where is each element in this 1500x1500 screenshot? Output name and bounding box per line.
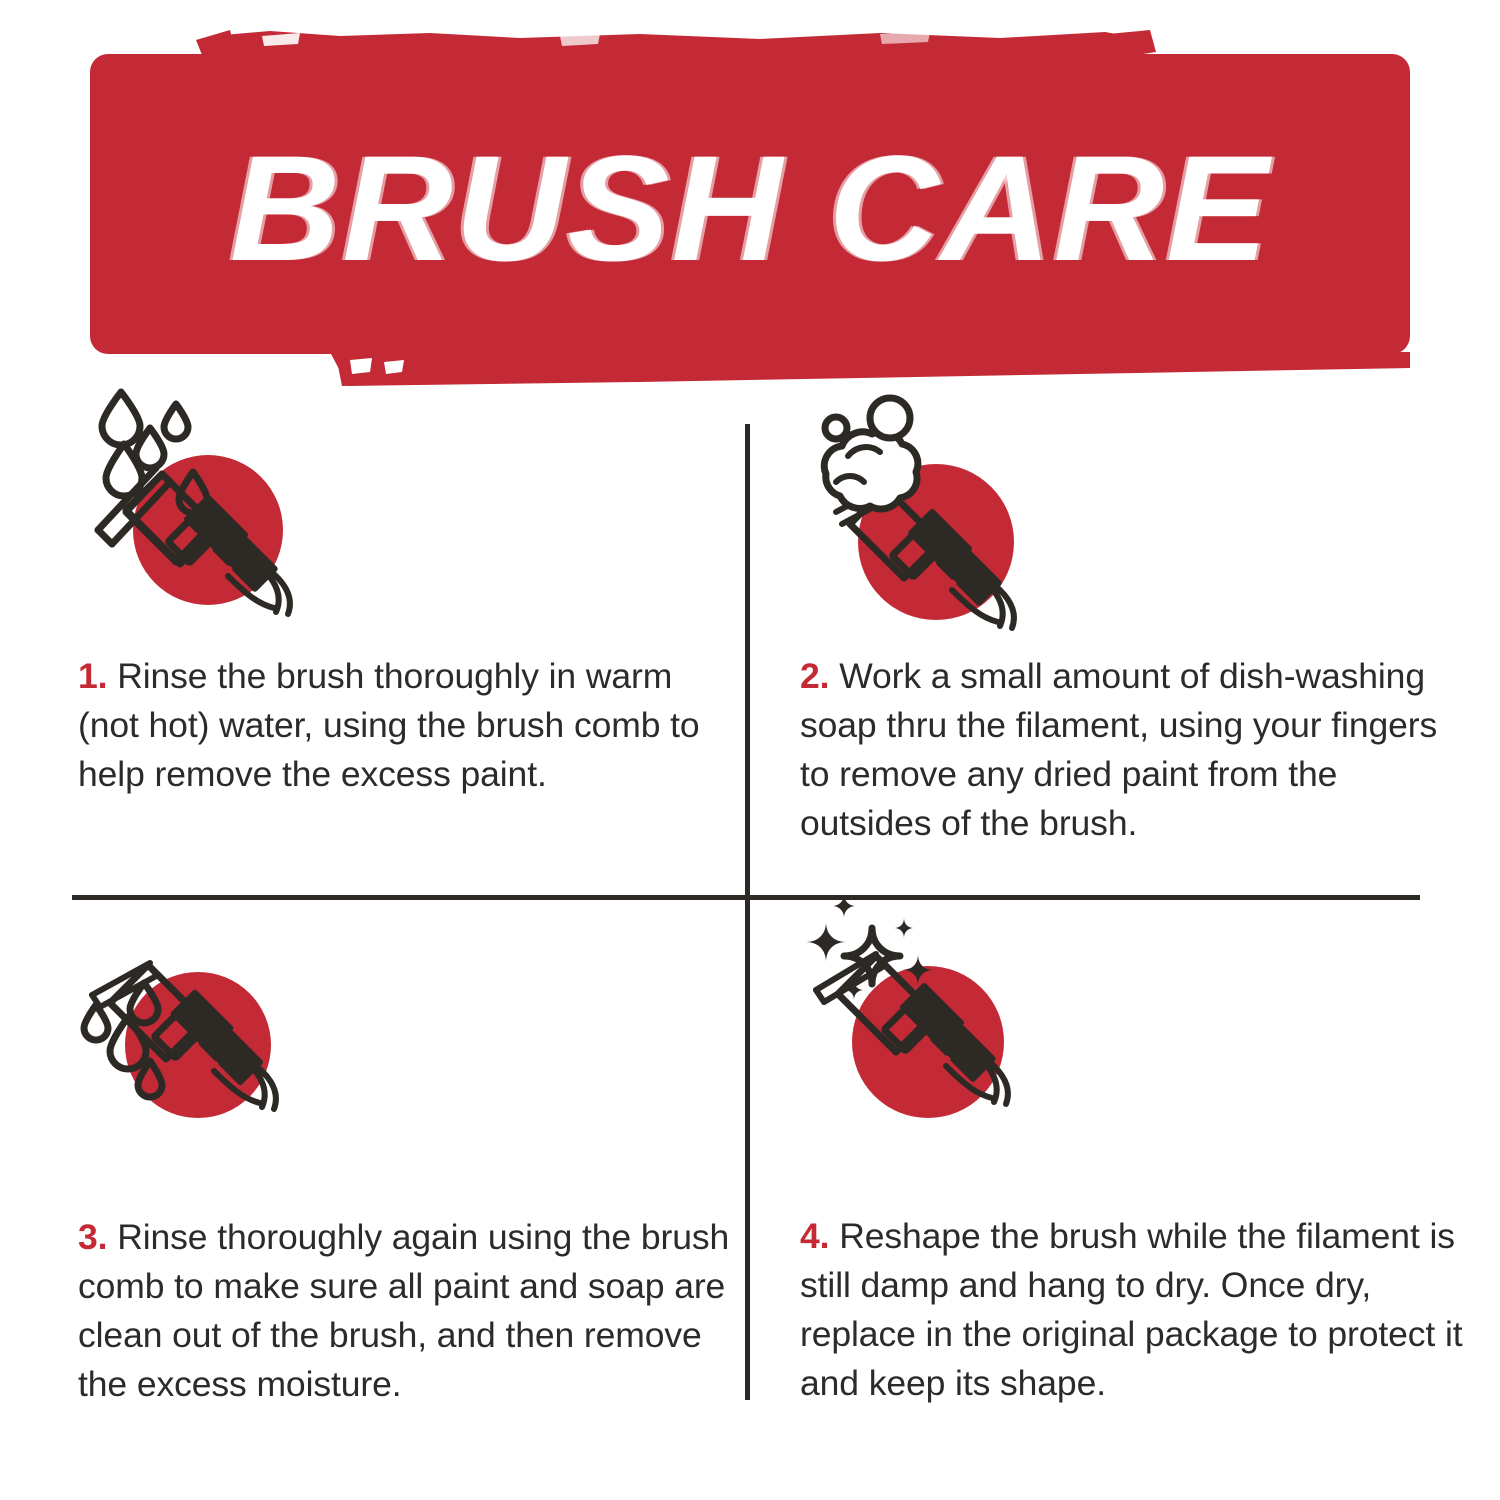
paintbrush-rinse-drops-icon <box>78 935 338 1185</box>
step-card-3: 3. Rinse thoroughly again using the brus… <box>78 935 768 1409</box>
brush-care-infographic: BRUSH CARE <box>0 0 1500 1500</box>
step-text-2: 2. Work a small amount of dish-washing s… <box>800 652 1470 848</box>
step-text-3: 3. Rinse thoroughly again using the brus… <box>78 1213 738 1409</box>
step-text-1: 1. Rinse the brush thoroughly in warm (n… <box>78 652 738 799</box>
steps-grid: 1. Rinse the brush thoroughly in warm (n… <box>0 380 1500 1500</box>
page-title: BRUSH CARE <box>77 58 1423 358</box>
step-number-2: 2. <box>800 656 829 696</box>
header-banner: BRUSH CARE <box>0 0 1500 400</box>
paintbrush-soap-suds-icon <box>800 390 1060 640</box>
paintbrush-water-drops-icon <box>78 380 338 630</box>
step-text-4: 4. Reshape the brush while the filament … <box>800 1212 1470 1408</box>
step-number-3: 3. <box>78 1217 107 1257</box>
step-card-1: 1. Rinse the brush thoroughly in warm (n… <box>78 380 768 799</box>
step-body-1: Rinse the brush thoroughly in warm (not … <box>78 656 700 794</box>
step-card-2: 2. Work a small amount of dish-washing s… <box>800 390 1490 848</box>
step-body-2: Work a small amount of dish-washing soap… <box>800 656 1437 843</box>
step-card-4: 4. Reshape the brush while the filament … <box>800 892 1490 1408</box>
step-number-4: 4. <box>800 1216 829 1256</box>
step-body-4: Reshape the brush while the filament is … <box>800 1216 1463 1403</box>
paintbrush-sparkles-icon <box>800 892 1060 1142</box>
step-number-1: 1. <box>78 656 107 696</box>
step-body-3: Rinse thoroughly again using the brush c… <box>78 1217 729 1404</box>
